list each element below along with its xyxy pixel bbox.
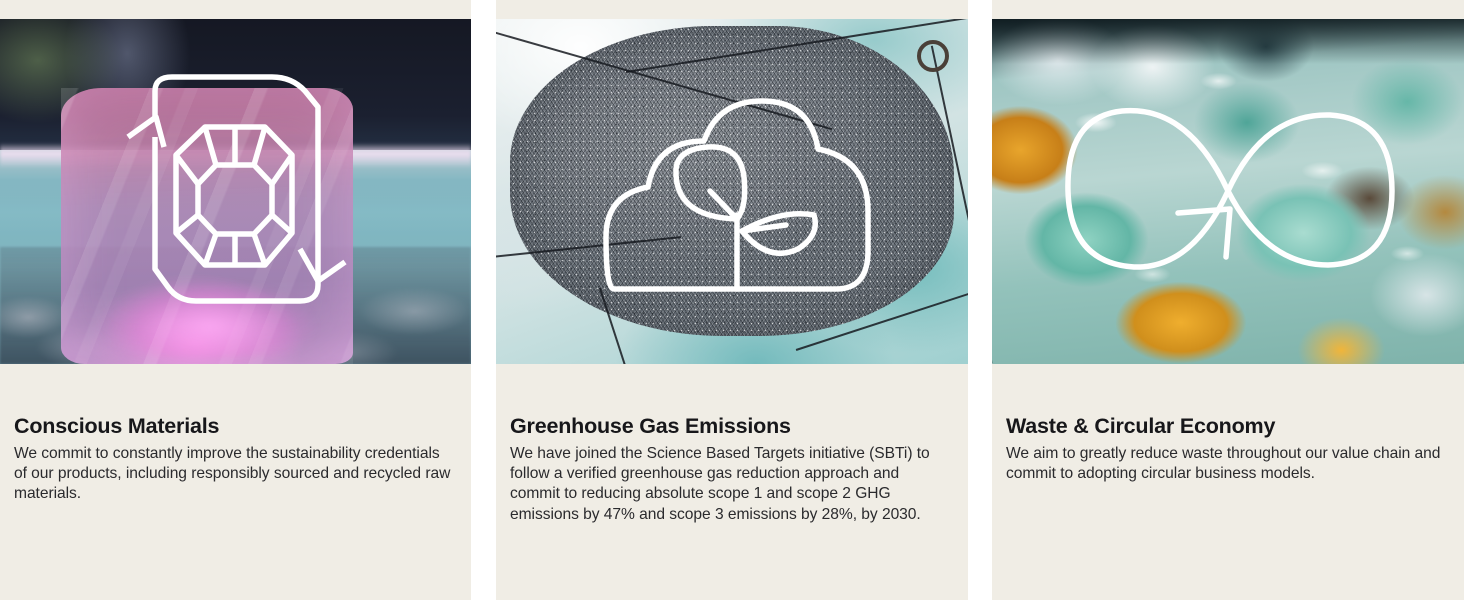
card-description: We aim to greatly reduce waste throughou… (1006, 444, 1454, 484)
card-description: We have joined the Science Based Targets… (510, 444, 952, 525)
pillar-card-greenhouse-gas-emissions[interactable]: Greenhouse Gas Emissions We have joined … (496, 0, 968, 600)
column-gap-2 (968, 0, 992, 600)
card-description: We commit to constantly improve the sust… (14, 444, 455, 505)
card-media-greenhouse-gas (496, 19, 968, 364)
sustainability-pillars-row: Conscious Materials We commit to constan… (0, 0, 1464, 600)
card-text-greenhouse-gas: Greenhouse Gas Emissions We have joined … (496, 364, 968, 600)
column-gap-1 (471, 0, 496, 600)
card-heading: Waste & Circular Economy (1006, 414, 1454, 439)
card-heading: Greenhouse Gas Emissions (510, 414, 952, 439)
card-media-waste-circular (992, 19, 1464, 364)
card-text-conscious-materials: Conscious Materials We commit to constan… (0, 364, 471, 600)
gem-recycling-loop-icon (0, 19, 471, 364)
card-text-waste-circular: Waste & Circular Economy We aim to great… (992, 364, 1464, 600)
pillar-card-conscious-materials[interactable]: Conscious Materials We commit to constan… (0, 0, 471, 600)
cloud-seedling-icon (496, 19, 968, 364)
pillar-card-waste-circular-economy[interactable]: Waste & Circular Economy We aim to great… (992, 0, 1464, 600)
card-media-conscious-materials (0, 19, 471, 364)
infinity-arrow-icon (992, 19, 1464, 364)
card-heading: Conscious Materials (14, 414, 455, 439)
